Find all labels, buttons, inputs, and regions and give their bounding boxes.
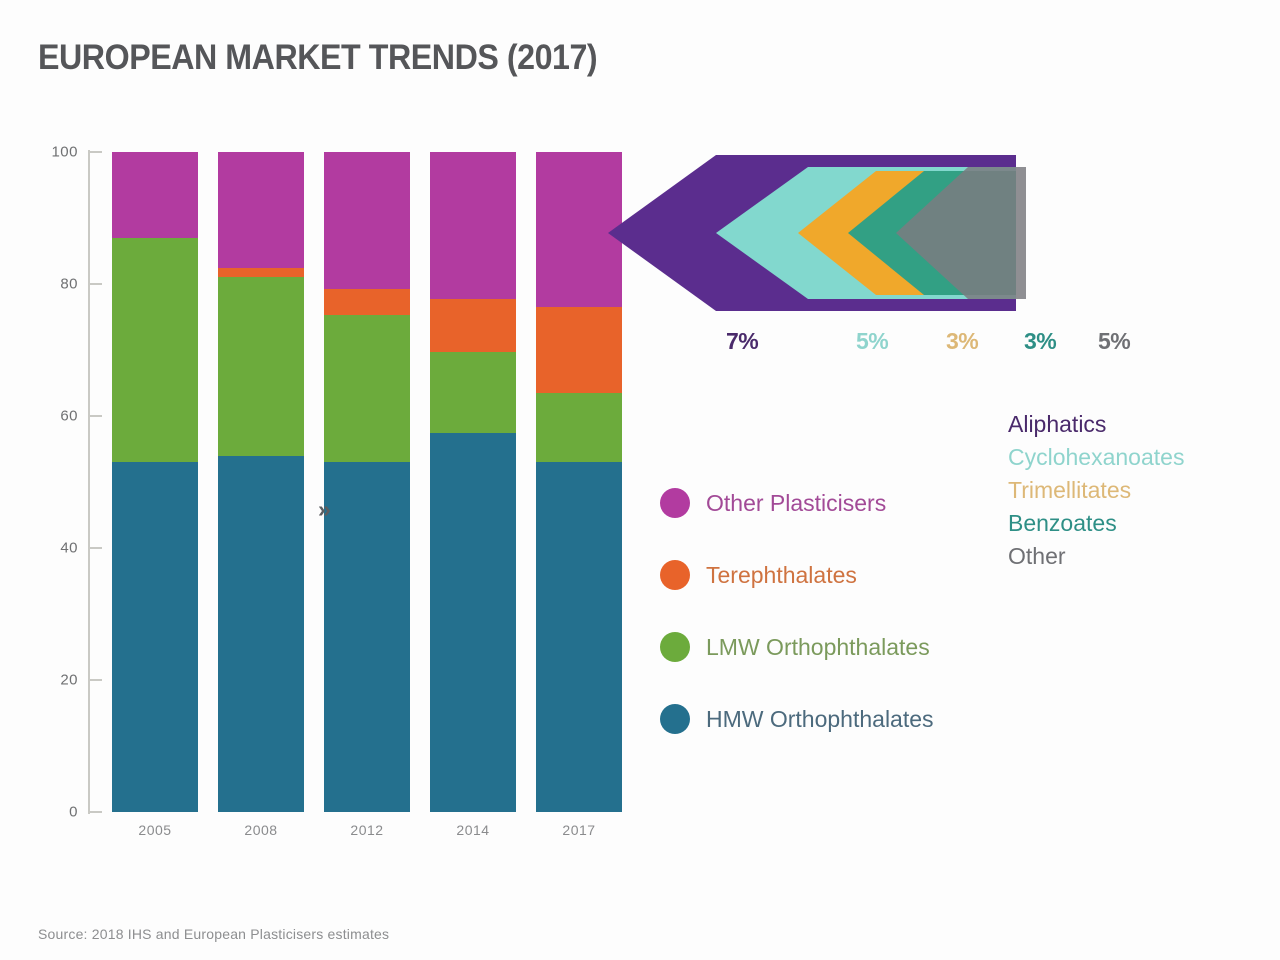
bar-segment[interactable] [218,152,304,268]
bar-segment[interactable] [430,352,516,433]
legend-swatch-icon [660,488,690,518]
y-tick-label: 100 [32,144,78,161]
bar-2005[interactable] [112,152,198,812]
x-tick-label: 2014 [430,822,516,838]
bar-segment[interactable] [430,433,516,813]
y-tick-label: 0 [32,804,78,821]
chart-page: EUROPEAN MARKET TRENDS (2017) 0204060801… [0,0,1280,960]
breakdown-pct-trimellitates: 3% [946,328,978,355]
breakdown-label-cyclohexanoates: Cyclohexanoates [1008,441,1272,474]
x-tick-label: 2017 [536,822,622,838]
breakdown-labels: AliphaticsCyclohexanoatesTrimellitatesBe… [1008,408,1272,573]
bar-segment[interactable] [324,289,410,315]
breakdown-pct-aliphatics: 7% [726,328,758,355]
x-tick-label: 2005 [112,822,198,838]
plot-area [88,152,618,812]
y-tick-label: 80 [32,276,78,293]
legend-chevron-icon: » [318,496,329,523]
y-tick-label: 20 [32,672,78,689]
bar-segment[interactable] [112,462,198,812]
breakdown-pct-benzoates: 3% [1024,328,1056,355]
bar-segment[interactable] [218,456,304,812]
legend-item-lmw-orthophthalates[interactable]: LMW Orthophthalates [660,630,930,664]
legend-swatch-icon [660,560,690,590]
breakdown-pct-other: 5% [1098,328,1130,355]
breakdown-label-benzoates: Benzoates [1008,507,1272,540]
bar-segment[interactable] [218,268,304,278]
bar-segment[interactable] [324,152,410,289]
legend-item-label: HMW Orthophthalates [706,706,934,733]
bar-2008[interactable] [218,152,304,812]
legend-item-other-plasticisers[interactable]: Other Plasticisers [660,486,886,520]
bar-segment[interactable] [536,462,622,812]
chevron-svg [608,152,1028,314]
legend-item-label: Other Plasticisers [706,490,886,517]
bar-segment[interactable] [112,238,198,462]
bar-2014[interactable] [430,152,516,812]
breakdown-label-other: Other [1008,540,1272,573]
bar-segment[interactable] [536,393,622,462]
legend-item-label: Terephthalates [706,562,857,589]
legend-swatch-icon [660,632,690,662]
legend-swatch-icon [660,704,690,734]
breakdown-label-aliphatics: Aliphatics [1008,408,1272,441]
bar-segment[interactable] [218,277,304,455]
bar-2012[interactable] [324,152,410,812]
breakdown-percentages: 7%5%3%3%5% [608,328,1028,358]
source-note: Source: 2018 IHS and European Plasticise… [38,926,389,942]
x-tick-label: 2012 [324,822,410,838]
x-tick-label: 2008 [218,822,304,838]
bar-segment[interactable] [112,152,198,238]
bar-segment[interactable] [430,152,516,299]
breakdown-pct-cyclohexanoates: 5% [856,328,888,355]
bar-segment[interactable] [324,315,410,462]
bar-segment[interactable] [430,299,516,352]
bar-segment[interactable] [324,462,410,812]
breakdown-label-trimellitates: Trimellitates [1008,474,1272,507]
breakdown-chevron-graphic [608,152,1028,314]
y-tick-label: 60 [32,408,78,425]
legend-item-terephthalates[interactable]: Terephthalates [660,558,857,592]
y-tick-label: 40 [32,540,78,557]
page-title: EUROPEAN MARKET TRENDS (2017) [38,38,597,78]
legend-item-hmw-orthophthalates[interactable]: HMW Orthophthalates [660,702,934,736]
legend-item-label: LMW Orthophthalates [706,634,930,661]
